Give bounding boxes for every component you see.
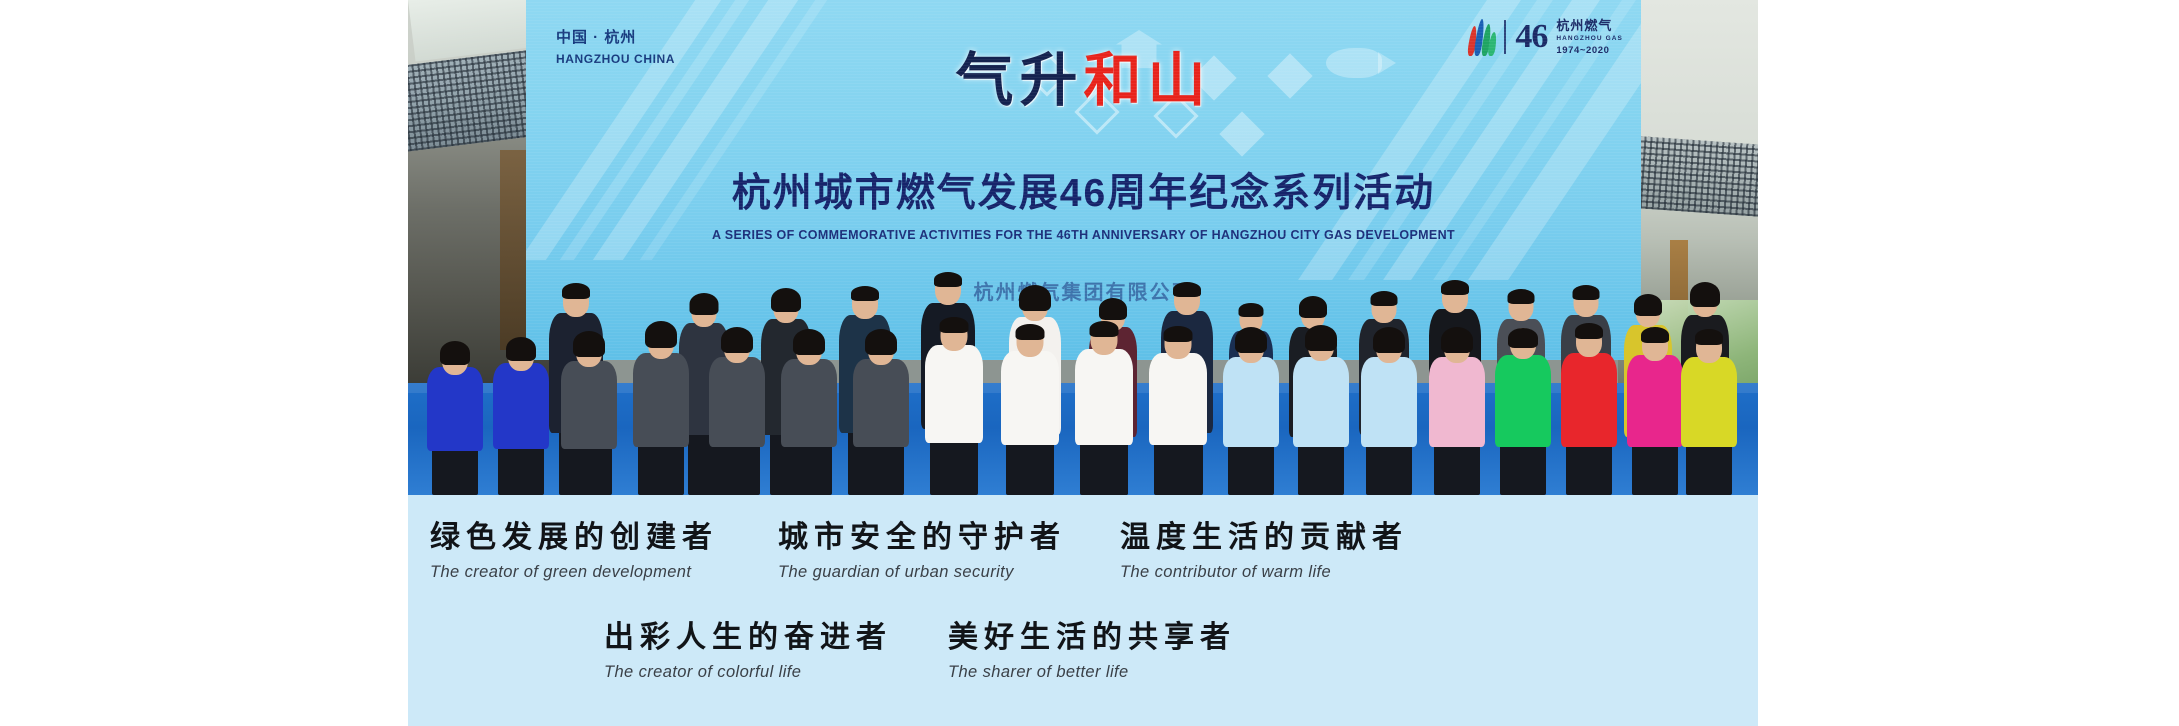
slogan-cn: 出彩人生的奋进者 — [604, 621, 892, 656]
attendee-front — [492, 323, 550, 495]
slogan-en: The creator of colorful life — [604, 663, 892, 682]
slogan-item: 温度生活的贡献者 The contributor of warm life — [1120, 521, 1408, 582]
attendee-front — [426, 327, 484, 495]
slogan-cn: 美好生活的共享者 — [948, 621, 1236, 656]
slogan-en: The creator of green development — [430, 563, 718, 582]
slogan-item: 绿色发展的创建者 The creator of green developmen… — [430, 521, 718, 582]
group-photo: 中国 · 杭州 HANGZHOU CHINA 46 杭州燃气 HANGZHOU … — [408, 0, 1758, 495]
slogan-item: 出彩人生的奋进者 The creator of colorful life — [604, 621, 892, 682]
poster-page: 中国 · 杭州 HANGZHOU CHINA 46 杭州燃气 HANGZHOU … — [0, 0, 2179, 726]
slogan-panel: 绿色发展的创建者 The creator of green developmen… — [408, 495, 1758, 726]
slogan-item: 城市安全的守护者 The guardian of urban security — [778, 521, 1066, 582]
crowd-of-attendees — [408, 0, 1758, 495]
slogan-cn: 城市安全的守护者 — [778, 521, 1066, 556]
slogan-cn: 绿色发展的创建者 — [430, 521, 718, 556]
slogan-en: The contributor of warm life — [1120, 563, 1408, 582]
slogan-cn: 温度生活的贡献者 — [1120, 521, 1408, 556]
slogan-item: 美好生活的共享者 The sharer of better life — [948, 621, 1236, 682]
slogan-en: The guardian of urban security — [778, 563, 1066, 582]
poster-content-column: 中国 · 杭州 HANGZHOU CHINA 46 杭州燃气 HANGZHOU … — [408, 0, 1758, 726]
slogan-en: The sharer of better life — [948, 663, 1236, 682]
